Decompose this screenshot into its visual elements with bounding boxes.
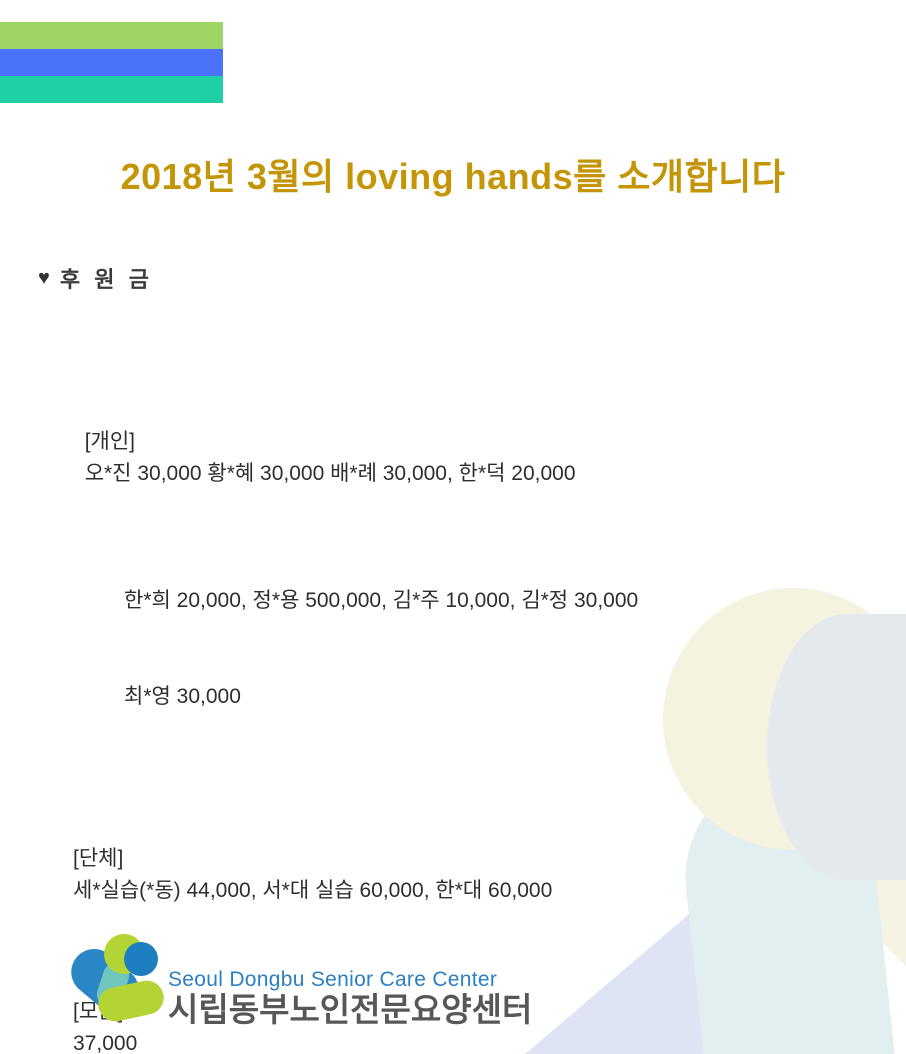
- entry-line: 세*실습(*동) 44,000, 서*대 실습 60,000, 한*대 60,0…: [73, 879, 552, 902]
- entry-donations-individual: [개인] 오*진 30,000 황*혜 30,000 배*례 30,000, 한…: [38, 330, 868, 777]
- logo-korean-name: 시립동부노인전문요양센터: [168, 992, 532, 1028]
- entry-line: 한*희 20,000, 정*용 500,000, 김*주 10,000, 김*정…: [38, 585, 868, 617]
- entry-line: 최*영 30,000: [38, 681, 868, 713]
- header-bar-blue: [0, 49, 223, 76]
- logo-text-block: Seoul Dongbu Senior Care Center 시립동부노인전문…: [168, 968, 532, 1028]
- entry-line: 37,000: [73, 1032, 137, 1054]
- header-bar-green: [0, 22, 223, 49]
- entry-tag: [단체]: [73, 847, 129, 870]
- section-heading-label: 후 원 금: [60, 262, 153, 294]
- header-color-bars: [0, 22, 223, 103]
- section-heading-donations: ♥ 후 원 금: [38, 262, 868, 294]
- logo-shape-blue-head: [124, 942, 158, 976]
- logo-person-icon: [62, 932, 154, 1028]
- organization-logo: Seoul Dongbu Senior Care Center 시립동부노인전문…: [62, 932, 532, 1028]
- poster-page: 2018년 3월의 loving hands를 소개합니다 ♥ 후 원 금 [개…: [0, 0, 906, 1054]
- entry-donations-group: [단체] 세*실습(*동) 44,000, 서*대 실습 60,000, 한*대…: [38, 811, 868, 939]
- header-bar-teal: [0, 76, 223, 103]
- entry-line: 오*진 30,000 황*혜 30,000 배*례 30,000, 한*덕 20…: [85, 462, 576, 485]
- heart-icon: ♥: [38, 268, 50, 288]
- page-title: 2018년 3월의 loving hands를 소개합니다: [0, 148, 906, 200]
- logo-english-name: Seoul Dongbu Senior Care Center: [168, 968, 532, 992]
- entry-tag: [개인]: [85, 430, 141, 453]
